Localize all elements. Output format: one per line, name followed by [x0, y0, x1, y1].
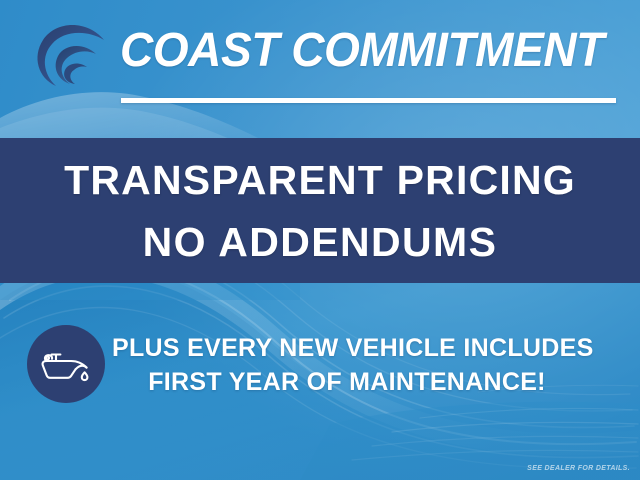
promo-line-2: FIRST YEAR OF MAINTENANCE! — [112, 365, 582, 399]
pricing-headline-1: TRANSPARENT PRICING — [64, 149, 576, 211]
wave-swirl-logo-svg — [30, 18, 112, 96]
promo-text-block: PLUS EVERY NEW VEHICLE INCLUDES FIRST YE… — [112, 331, 582, 399]
wave-swirl-logo-icon — [30, 18, 112, 96]
pricing-headline-2: NO ADDENDUMS — [143, 211, 498, 273]
header-divider — [121, 98, 616, 103]
header-section: COAST COMMITMENT — [0, 0, 640, 138]
promo-section: PLUS EVERY NEW VEHICLE INCLUDES FIRST YE… — [0, 283, 640, 480]
promo-line-1: PLUS EVERY NEW VEHICLE INCLUDES — [112, 331, 582, 365]
coast-commitment-banner: COAST COMMITMENT TRANSPARENT PRICING NO … — [0, 0, 640, 480]
page-title: COAST COMMITMENT — [120, 22, 600, 80]
oil-can-icon — [27, 325, 105, 403]
oil-can-icon-svg — [40, 344, 92, 384]
pricing-band: TRANSPARENT PRICING NO ADDENDUMS — [0, 138, 640, 283]
